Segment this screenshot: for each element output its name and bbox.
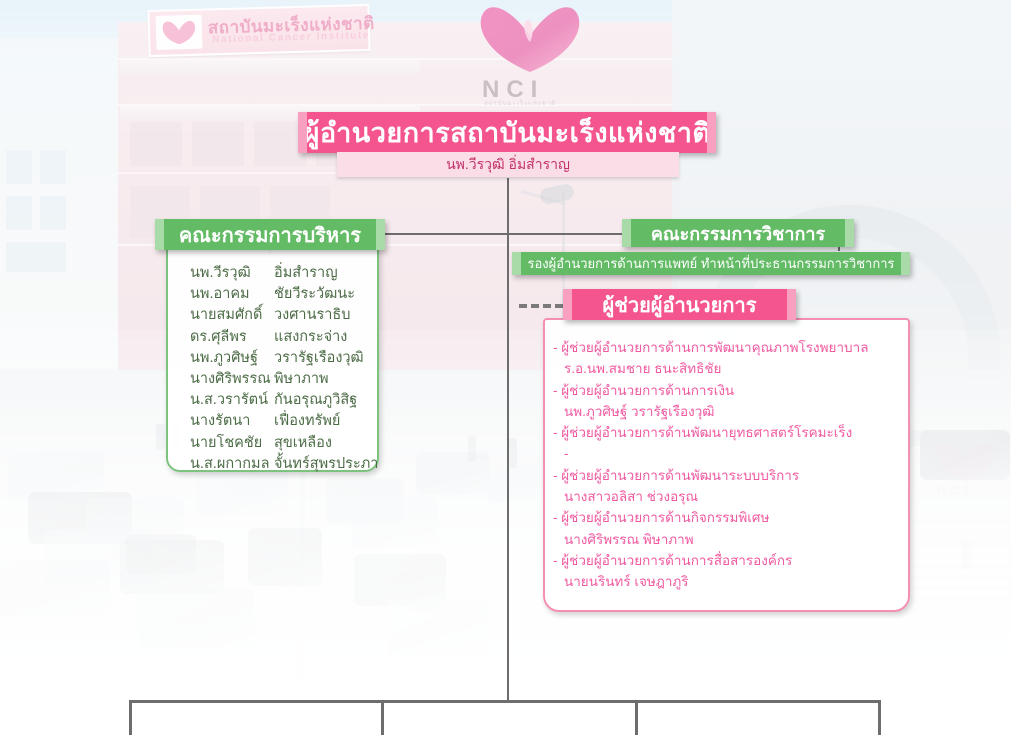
executive-member-title: นายสมศักดิ์ [190,305,274,326]
academic-committee-subtitle: รองผู้อำนวยการด้านการแพทย์ ทำหน้าที่ประธ… [527,253,894,274]
academic-committee-subtitle-ribbon: รองผู้อำนวยการด้านการแพทย์ ทำหน้าที่ประธ… [512,252,910,275]
assistant-director-person: นางศิริพรรณ พิษาภาพ [553,529,908,550]
director-title-ribbon: ผู้อำนวยการสถาบันมะเร็งแห่งชาติ [298,112,716,153]
director-name-text: นพ.วีรวุฒิ อิ่มสำราญ [446,154,570,176]
executive-member-title: นพ.วีรวุฒิ [190,263,274,284]
assistant-director-person: นางสาวอลิสา ช่วงอรุณ [553,486,908,507]
executive-member-row: นายโชคชัยสุขเหลือง [190,433,377,454]
assistant-director-person: - [553,443,908,464]
assistant-directors-heading: ผู้ช่วยผู้อำนวยการ [603,289,757,321]
executive-member-title: นพ.อาคม [190,284,274,305]
executive-member-title: นายโชคชัย [190,433,274,454]
ribbon-tab-right [376,219,385,250]
assistant-directors-ribbon: ผู้ช่วยผู้อำนวยการ [563,289,796,320]
assistant-director-item: ผู้ช่วยผู้อำนวยการด้านการเงินนพ.ภูวศิษฐ์… [553,380,908,423]
executive-member-surname: วงศานราธิบ [274,305,350,326]
assistant-directors-list: ผู้ช่วยผู้อำนวยการด้านการพัฒนาคุณภาพโรงพ… [545,320,908,593]
assistant-director-person: นพ.ภูวศิษฐ์ วรารัฐเรืองวุฒิ [553,401,908,422]
executive-member-surname: อิ่มสำราญ [274,263,338,284]
assistant-director-role: ผู้ช่วยผู้อำนวยการด้านการสื่อสารองค์กร [553,550,908,571]
assistant-director-item: ผู้ช่วยผู้อำนวยการด้านการพัฒนาคุณภาพโรงพ… [553,337,908,380]
executive-member-surname: วรารัฐเรืองวุฒิ [274,348,364,369]
executive-member-surname: สุขเหลือง [274,433,332,454]
assistant-directors-card: ผู้ช่วยผู้อำนวยการด้านการพัฒนาคุณภาพโรงพ… [543,318,910,612]
bottom-box-3[interactable] [638,703,878,735]
assistant-director-item: ผู้ช่วยผู้อำนวยการด้านกิจกรรมพิเศษนางศิร… [553,507,908,550]
executive-member-surname: กันอรุณภูวิสิฐ [274,390,357,411]
organization-chart-slide: NCI สถาบันมะเร็งแห่งชาติ National Cancer… [0,0,1011,735]
ribbon-tab-right [901,252,910,275]
executive-member-title: น.ส.วรารัตน์ [190,390,274,411]
executive-member-row: นพ.อาคมชัยวีระวัฒนะ [190,284,377,305]
assistant-director-role: ผู้ช่วยผู้อำนวยการด้านพัฒนายุทธศาสตร์โรค… [553,422,908,443]
ribbon-tab-left [563,289,572,320]
ribbon-tab-left [298,112,307,153]
executive-member-surname: แสงกระจ่าง [274,327,347,348]
executive-committee-list: นพ.วีรวุฒิอิ่มสำราญนพ.อาคมชัยวีระวัฒนะนา… [168,249,377,475]
executive-committee-card: นพ.วีรวุฒิอิ่มสำราญนพ.อาคมชัยวีระวัฒนะนา… [166,247,379,472]
assistant-director-person: ร.อ.นพ.สมชาย ธนะสิทธิชัย [553,358,908,379]
ribbon-tab-right [787,289,796,320]
director-name-bar: นพ.วีรวุฒิ อิ่มสำราญ [337,152,679,177]
connector-bottom-horizontal [129,700,881,703]
connector-bottom-divider-1 [381,700,384,735]
assistant-director-item: ผู้ช่วยผู้อำนวยการด้านพัฒนายุทธศาสตร์โรค… [553,422,908,465]
assistant-director-item: ผู้ช่วยผู้อำนวยการด้านพัฒนาระบบบริการนาง… [553,465,908,508]
ribbon-tab-left [622,219,631,247]
executive-member-surname: เฟื่องทรัพย์ [274,411,340,432]
director-title-text: ผู้อำนวยการสถาบันมะเร็งแห่งชาติ [304,111,711,154]
executive-member-title: ดร.ศุลีพร [190,327,274,348]
ribbon-tab-left [155,219,164,250]
executive-member-row: นางรัตนาเฟื่องทรัพย์ [190,411,377,432]
ribbon-tab-right [707,112,716,153]
assistant-director-role: ผู้ช่วยผู้อำนวยการด้านกิจกรรมพิเศษ [553,507,908,528]
executive-member-row: นางศิริพรรณพิษาภาพ [190,369,377,390]
executive-member-row: น.ส.วรารัตน์กันอรุณภูวิสิฐ [190,390,377,411]
connector-dashed-to-assistants [519,304,563,308]
assistant-director-role: ผู้ช่วยผู้อำนวยการด้านพัฒนาระบบบริการ [553,465,908,486]
executive-member-title: นางศิริพรรณ [190,369,274,390]
bottom-box-2[interactable] [384,703,635,735]
connector-bottom-right-edge [878,700,881,735]
executive-member-title: นพ.ภูวศิษฐ์ [190,348,274,369]
executive-member-surname: จั้นทร์สุพรประภา [274,454,378,475]
bottom-box-1[interactable] [131,703,381,735]
academic-committee-ribbon: คณะกรรมการวิชาการ [622,219,854,247]
executive-member-surname: ชัยวีระวัฒนะ [274,284,355,305]
ribbon-tab-right [845,219,854,247]
connector-bottom-left-edge [129,700,132,735]
assistant-director-role: ผู้ช่วยผู้อำนวยการด้านการพัฒนาคุณภาพโรงพ… [553,337,908,358]
connector-spine-down [507,233,509,701]
connector-director-down [507,178,509,234]
ribbon-tab-left [512,252,521,275]
assistant-director-role: ผู้ช่วยผู้อำนวยการด้านการเงิน [553,380,908,401]
executive-member-row: น.ส.ผกากมลจั้นทร์สุพรประภา [190,454,377,475]
assistant-director-person: นายนรินทร์ เจษฎาภูริ [553,571,908,592]
executive-member-row: นพ.วีรวุฒิอิ่มสำราญ [190,263,377,284]
executive-committee-ribbon: คณะกรรมการบริหาร [155,219,385,250]
executive-member-surname: พิษาภาพ [274,369,329,390]
assistant-director-item: ผู้ช่วยผู้อำนวยการด้านการสื่อสารองค์กรนา… [553,550,908,593]
executive-member-row: นพ.ภูวศิษฐ์วรารัฐเรืองวุฒิ [190,348,377,369]
executive-committee-heading: คณะกรรมการบริหาร [179,219,361,251]
executive-member-row: นายสมศักดิ์วงศานราธิบ [190,305,377,326]
executive-member-title: นางรัตนา [190,411,274,432]
academic-committee-heading: คณะกรรมการวิชาการ [651,219,825,248]
executive-member-title: น.ส.ผกากมล [190,454,274,475]
connector-bottom-divider-2 [635,700,638,735]
executive-member-row: ดร.ศุลีพรแสงกระจ่าง [190,327,377,348]
